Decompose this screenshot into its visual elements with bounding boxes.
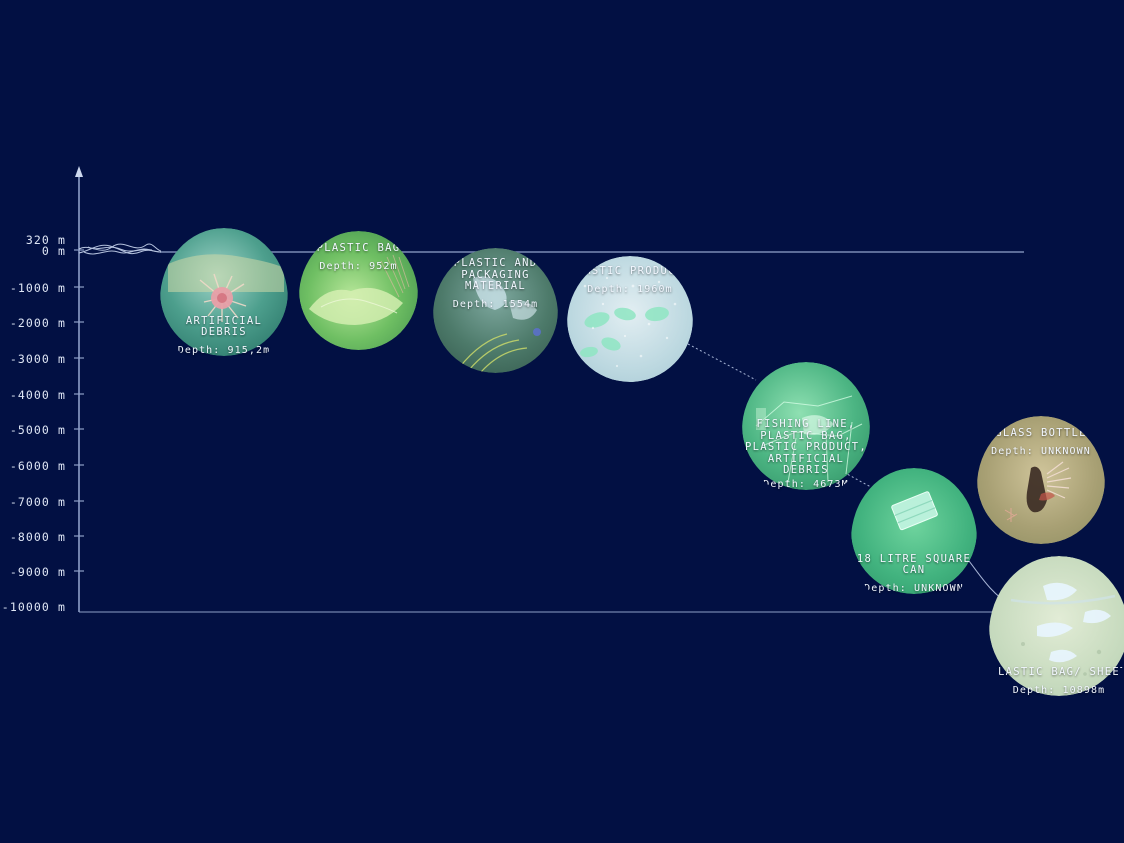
tick-label-0: 0 m <box>0 244 66 258</box>
tick-label-9000: -9000 m <box>0 565 66 579</box>
plastic-bag-sheet-title: PLASTIC BAG/ SHEET <box>989 667 1124 679</box>
plastic-products-depth: Depth: 1960m <box>567 284 693 296</box>
bubble-plastic-bag[interactable]: PLASTIC BAG Depth: 952m <box>299 231 418 362</box>
square-can-title: 18 LITRE SQUARE CAN <box>851 554 977 577</box>
glass-bottle-title: GLASS BOTTLE <box>977 428 1105 440</box>
fishing-line-group-title: FISHING LINE, PLASTIC BAG, PLASTIC PRODU… <box>742 419 870 477</box>
square-can-depth: Depth: UNKNOWN <box>851 583 977 595</box>
bubble-plastic-packaging[interactable]: PLASTIC AND PACKAGING MATERIAL Depth: 15… <box>433 248 558 383</box>
tick-label-5000: -5000 m <box>0 423 66 437</box>
tick-label-7000: -7000 m <box>0 495 66 509</box>
bubble-plastic-products[interactable]: PLASTIC PRODUCTS Depth: 1960m <box>567 256 693 392</box>
square-can-caption: 18 LITRE SQUARE CAN Depth: UNKNOWN <box>851 554 977 595</box>
bubble-artificial-debris[interactable]: ARTIFICIAL DEBRIS Depth: 915,2m <box>160 228 288 372</box>
plastic-products-caption: PLASTIC PRODUCTS Depth: 1960m <box>567 266 693 295</box>
plastic-bag-depth: Depth: 952m <box>299 261 418 273</box>
tick-label-6000: -6000 m <box>0 459 66 473</box>
artificial-debris-title: ARTIFICIAL DEBRIS <box>160 316 288 339</box>
tick-label-1000: -1000 m <box>0 281 66 295</box>
artificial-debris-caption: ARTIFICIAL DEBRIS Depth: 915,2m <box>160 316 288 357</box>
plastic-bag-sheet-caption: PLASTIC BAG/ SHEET Depth: 10898m <box>989 667 1124 696</box>
glass-bottle-depth: Depth: UNKNOWN <box>977 446 1105 458</box>
artificial-debris-depth: Depth: 915,2m <box>160 345 288 357</box>
tick-label-10000: -10000 m <box>0 600 66 614</box>
plastic-packaging-caption: PLASTIC AND PACKAGING MATERIAL Depth: 15… <box>433 258 558 310</box>
tick-label-2000: -2000 m <box>0 316 66 330</box>
tick-label-8000: -8000 m <box>0 530 66 544</box>
fishing-line-group-depth: Depth: 4673M <box>742 479 870 491</box>
plastic-bag-caption: PLASTIC BAG Depth: 952m <box>299 243 418 272</box>
bubble-fishing-line-group[interactable]: FISHING LINE, PLASTIC BAG, PLASTIC PRODU… <box>742 362 870 498</box>
tick-label-3000: -3000 m <box>0 352 66 366</box>
plastic-packaging-depth: Depth: 1554m <box>433 299 558 311</box>
deep-sea-debris-infographic: 320 m 0 m -1000 m -2000 m -3000 m -4000 … <box>0 0 1124 843</box>
axis-and-connectors <box>0 0 1124 843</box>
bubble-glass-bottle[interactable]: GLASS BOTTLE Depth: UNKNOWN <box>977 416 1105 556</box>
glass-bottle-caption: GLASS BOTTLE Depth: UNKNOWN <box>977 428 1105 457</box>
plastic-bag-title: PLASTIC BAG <box>299 243 418 255</box>
bubble-plastic-bag-sheet[interactable]: PLASTIC BAG/ SHEET Depth: 10898m <box>989 556 1124 712</box>
tick-label-4000: -4000 m <box>0 388 66 402</box>
plastic-packaging-title: PLASTIC AND PACKAGING MATERIAL <box>433 258 558 293</box>
plastic-products-title: PLASTIC PRODUCTS <box>567 266 693 278</box>
plastic-bag-sheet-depth: Depth: 10898m <box>989 685 1124 697</box>
fishing-line-group-caption: FISHING LINE, PLASTIC BAG, PLASTIC PRODU… <box>742 419 870 490</box>
